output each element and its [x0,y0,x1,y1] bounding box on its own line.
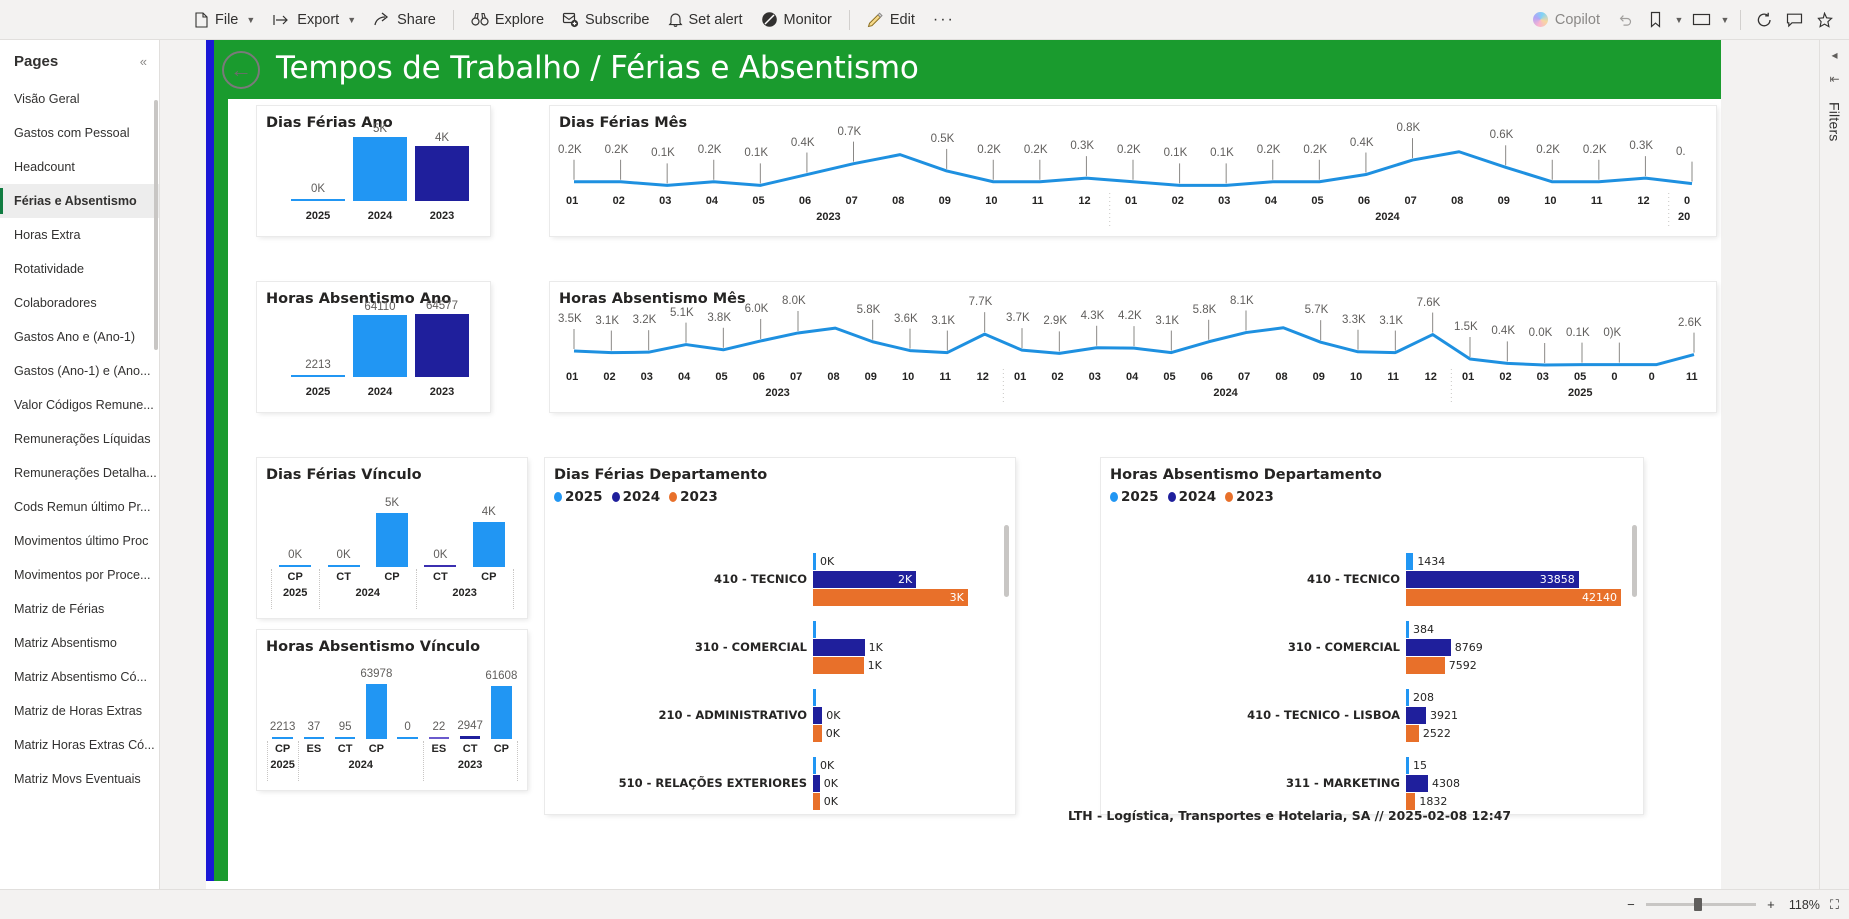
pages-pane-header: Pages « [0,40,159,82]
chevron-double-left-icon[interactable]: « [140,54,147,69]
report-footer-text: LTH - Logística, Transportes e Hotelaria… [1068,808,1511,823]
file-menu-label: File [215,12,238,28]
page-item-label: Matriz Absentismo Có... [14,670,147,684]
axis-tick-label: 09 [1313,371,1325,383]
chart-plot-area: 410 - TECNICO0K2K3K310 - COMERCIAL1K1K21… [545,505,1015,805]
bar-2024-2[interactable] [813,707,822,724]
bar-value-label: 0K [820,555,834,568]
zoom-slider-thumb[interactable] [1694,898,1702,911]
chart-vertical-scrollbar[interactable] [1632,525,1637,597]
zoom-out-button[interactable]: − [1624,897,1638,912]
sidebar-item-visao-geral[interactable]: Visão Geral [0,82,159,116]
file-icon [194,12,209,28]
chevron-down-icon: ▼ [1675,15,1684,25]
axis-tick-label: 01 [1462,371,1474,383]
bar-value-label: 0K [820,759,834,772]
bar-CP[interactable] [272,737,293,739]
more-options-button[interactable]: ··· [924,5,964,35]
pages-scrollbar[interactable] [154,100,158,350]
data-point-label: 0.2K [558,144,582,156]
bar-2025-0[interactable] [1406,553,1413,570]
sidebar-item-rotatividade[interactable]: Rotatividade [0,252,159,286]
data-point-label: 0.1K [1164,147,1188,159]
data-point-label: 0.2K [1257,144,1281,156]
axis-tick-label: CT [422,571,458,583]
zoom-slider[interactable] [1646,903,1756,906]
sidebar-item-gastos-ano-e-ano-1[interactable]: Gastos Ano e (Ano-1) [0,320,159,354]
bar-value-label: 5K [353,123,407,135]
sidebar-item-cods-remun-ultimo-pr[interactable]: Cods Remun último Pr... [0,490,159,524]
chart-legend[interactable]: 2025 2024 2023 [545,483,1015,505]
axis-group-separator [298,741,299,781]
bar-value-label: 0K [826,709,840,722]
bar-value-label: 33858 [1535,573,1575,586]
bell-icon [668,12,683,28]
data-point-label: 3.3K [1342,314,1366,326]
chart-plot-area: 410 - TECNICO14343385842140310 - COMERCI… [1101,505,1643,805]
data-point-label: 0)K [1603,327,1621,339]
bar-value-label: 0K [316,549,372,561]
bar-2024[interactable] [353,137,407,201]
comments-button[interactable] [1779,5,1809,35]
axis-tick-label: 01 [1014,371,1026,383]
bar-value-label: 4K [461,506,517,518]
monitor-icon [761,11,778,28]
page-item-label: Visão Geral [14,92,80,106]
sidebar-item-horas-extra[interactable]: Horas Extra [0,218,159,252]
legend-label: 2025 [565,489,603,505]
chevron-left-icon[interactable]: ◂ [1831,48,1837,62]
set-alert-button-label: Set alert [689,12,743,28]
axis-tick-label: 03 [1089,371,1101,383]
axis-group-label: 20 [1678,211,1690,223]
axis-tick-label: 02 [603,371,615,383]
bookmarks-button[interactable] [1640,5,1670,35]
sidebar-item-gastos-com-pessoal[interactable]: Gastos com Pessoal [0,116,159,150]
bar-2023-2[interactable] [1406,725,1419,742]
sidebar-item-gastos-ano-1-e-ano[interactable]: Gastos (Ano-1) e (Ano... [0,354,159,388]
view-button[interactable] [1686,5,1716,35]
chart-legend[interactable]: 2025 2024 2023 [1101,483,1643,505]
export-icon [273,13,291,27]
axis-group-label: 2023 [765,387,789,399]
bar-2025-2[interactable] [813,689,816,706]
data-point-label: 2.6K [1678,317,1702,329]
bar-value-label: 3921 [1430,709,1458,722]
data-point-label: 3.2K [633,314,657,326]
bar-value-label: 0K [824,777,838,790]
axis-group-separator [271,569,272,609]
bookmarks-chevron[interactable]: ▼ [1670,5,1686,35]
fit-to-page-icon[interactable]: ⛶ [1830,897,1839,913]
bar-group[interactable]: 4K 2023 [415,129,469,201]
bar-CP[interactable] [473,522,505,567]
data-point-label: 7.6K [1417,297,1441,309]
axis-group-separator [267,741,268,781]
visual-title: Horas Absentismo Mês [550,282,1716,307]
category-label: 410 - TECNICO [1101,572,1400,586]
axis-label-2024: 2024 [353,386,407,398]
set-alert-button[interactable]: Set alert [659,5,752,35]
sidebar-item-headcount[interactable]: Headcount [0,150,159,184]
bar-value-label: 61608 [473,670,529,682]
axis-group-separator [517,741,518,781]
edit-button[interactable]: Edit [858,5,924,35]
bar-2025[interactable] [291,375,345,377]
legend-label: 2024 [623,489,661,505]
report-header: ← Tempos de Trabalho / Férias e Absentis… [214,40,1721,99]
axis-tick-label: CP [277,571,313,583]
refresh-button[interactable] [1749,5,1779,35]
sidebar-item-movimentos-ultimo-proc[interactable]: Movimentos último Proc [0,524,159,558]
favorite-icon [1816,12,1833,28]
bar-value-label: 4K [415,132,469,144]
axis-tick-label: 08 [1451,195,1463,207]
divider [453,10,454,30]
data-point-label: 0.5K [931,133,955,145]
page-item-label: Cods Remun último Pr... [14,500,150,514]
category-label: 310 - COMERCIAL [545,640,807,654]
monitor-button[interactable]: Monitor [752,5,841,35]
axis-tick-label: 0 [1649,371,1655,383]
data-point-label: 0.2K [1303,144,1327,156]
bar-2024-2[interactable] [1406,707,1426,724]
axis-tick-label: 04 [1265,195,1277,207]
axis-group-label: 2025 [1568,387,1592,399]
axis-label-2024: 2024 [353,210,407,222]
visual-dias-ferias-vinculo[interactable]: Dias Férias Vínculo 0KCP0KCT5KCP0KCT4KCP… [257,458,527,618]
axis-tick-label: 03 [659,195,671,207]
bar-value-label: 1832 [1419,795,1447,808]
bar-group[interactable]: 64577 2023 [415,305,469,377]
data-point-label: 0.2K [1024,144,1048,156]
bar-CP[interactable] [491,686,512,739]
axis-tick-label: 03 [1218,195,1230,207]
data-point-label: 3.7K [1006,312,1030,324]
legend-swatch-icon [612,492,620,502]
chart-plot-area: 3.5K013.1K023.2K035.1K043.8K056.0K068.0K… [550,307,1716,405]
data-point-label: 0.2K [1583,144,1607,156]
page-title: Tempos de Trabalho / Férias e Absentismo [276,50,919,86]
data-point-label: 6.0K [745,303,769,315]
axis-tick-label: 02 [1172,195,1184,207]
bar-2024-1[interactable] [813,639,865,656]
data-point-label: 2.9K [1043,315,1067,327]
axis-tick-label: CP [471,571,507,583]
sidebar-item-matriz-absentismo-co[interactable]: Matriz Absentismo Có... [0,660,159,694]
data-point-label: 0.2K [698,144,722,156]
data-point-label: 4.3K [1081,310,1105,322]
chart-vertical-scrollbar[interactable] [1004,525,1009,597]
data-point-label: 5.1K [670,307,694,319]
command-bar-right-group: Copilot ▼ [1523,5,1839,35]
axis-tick-label: 06 [799,195,811,207]
sidebar-item-valor-codigos-remune[interactable]: Valor Códigos Remune... [0,388,159,422]
visual-dias-ferias-ano[interactable]: Dias Férias Ano 0K 2025 5K 2024 [257,106,490,236]
favorite-button[interactable] [1809,5,1839,35]
visual-horas-absentismo-departamento[interactable]: Horas Absentismo Departamento 2025 2024 … [1101,458,1643,814]
axis-tick-label: 03 [1537,371,1549,383]
axis-tick-label: 10 [1544,195,1556,207]
axis-group-label: 2023 [816,211,840,223]
visual-horas-absentismo-mes[interactable]: Horas Absentismo Mês 3.5K013.1K023.2K035… [550,282,1716,412]
pages-list[interactable]: Visão Geral Gastos com Pessoal Headcount… [0,82,159,889]
share-button[interactable]: Share [365,5,445,35]
pin-icon[interactable]: ⇤ [1829,72,1839,86]
page-item-label: Movimentos por Proce... [14,568,150,582]
axis-tick-label: 08 [892,195,904,207]
sidebar-item-movimentos-por-proce[interactable]: Movimentos por Proce... [0,558,159,592]
data-point-label: 0.8K [1397,122,1421,134]
visual-title: Horas Absentismo Vínculo [257,630,527,655]
bar-2025-3[interactable] [1406,757,1409,774]
bar-2024-3[interactable] [1406,775,1428,792]
bar-2023-2[interactable] [813,725,822,742]
axis-group-label: 2024 [346,587,390,599]
visual-horas-absentismo-ano[interactable]: Horas Absentismo Ano 2213 2025 64110 202… [257,282,490,412]
axis-tick-label: 07 [1238,371,1250,383]
category-label: 311 - MARKETING [1101,776,1400,790]
data-point-label: 3.8K [707,312,731,324]
page-item-label: Gastos (Ano-1) e (Ano... [14,364,151,378]
subscribe-button[interactable]: Subscribe [553,5,658,35]
bar-value-label: 3K [924,591,964,604]
axis-tick-label: 10 [985,195,997,207]
axis-tick-label: 07 [1405,195,1417,207]
legend-swatch-icon [1168,492,1176,502]
bar-2024-1[interactable] [1406,639,1451,656]
chart-plot-area: 2213 2025 64110 2024 64577 2023 [257,307,490,403]
bar-value-label: 7592 [1449,659,1477,672]
bar-2023[interactable] [415,146,469,201]
command-bar: File ▼ Export ▼ Share [0,0,1849,40]
sidebar-item-colaboradores[interactable]: Colaboradores [0,286,159,320]
bar-ES[interactable] [304,737,325,739]
sidebar-item-remuneracoes-detalha[interactable]: Remunerações Detalha... [0,456,159,490]
bar-CT[interactable] [424,565,456,567]
axis-tick-label: 10 [902,371,914,383]
file-menu-button[interactable]: File ▼ [185,5,264,35]
axis-tick-label: 12 [1078,195,1090,207]
undo-button[interactable] [1610,5,1640,35]
copilot-label: Copilot [1555,12,1600,28]
page-item-label: Colaboradores [14,296,97,310]
ellipsis-icon: ··· [933,15,955,25]
visual-title: Dias Férias Vínculo [257,458,527,483]
accent-bar-green [214,40,228,881]
visual-dias-ferias-departamento[interactable]: Dias Férias Departamento 2025 2024 2023 … [545,458,1015,814]
bar-2025-3[interactable] [813,757,816,774]
data-point-label: 0.3K [1070,140,1094,152]
bar-group[interactable]: 64110 2024 [353,305,407,377]
axis-group-separator [319,569,320,609]
bar-CT[interactable] [328,565,360,567]
bar-group[interactable]: 5K 2024 [353,129,407,201]
monitor-button-label: Monitor [784,12,832,28]
page-item-label: Matriz Absentismo [14,636,117,650]
legend-swatch-icon [1110,492,1118,502]
bar-value-label: 2K [872,573,912,586]
axis-tick-label: 04 [678,371,690,383]
axis-tick-label: 09 [1498,195,1510,207]
chevron-down-icon: ▼ [1721,15,1730,25]
sidebar-item-matriz-de-horas-extras[interactable]: Matriz de Horas Extras [0,694,159,728]
axis-tick-label: 11 [1591,195,1603,207]
data-point-label: 5.8K [1193,304,1217,316]
axis-tick-label: 05 [752,195,764,207]
chart-plot-area: 0K 2025 5K 2024 4K 202 [257,131,490,227]
category-label: 410 - TECNICO [545,572,807,586]
command-bar-left-group: File ▼ Export ▼ Share [0,5,964,35]
data-point-label: 0.4K [1491,325,1515,337]
bar-value-label: 384 [1413,623,1434,636]
binoculars-icon [471,12,489,27]
sidebar-item-matriz-movs-eventuais[interactable]: Matriz Movs Eventuais [0,762,159,796]
axis-group-label: 2025 [273,587,317,599]
bar-2025[interactable] [291,199,345,201]
export-menu-button[interactable]: Export ▼ [264,5,365,35]
body-row: Pages « Visão Geral Gastos com Pessoal H… [0,40,1849,889]
legend-item-2025[interactable]: 2025 [554,489,603,505]
export-menu-label: Export [297,12,339,28]
bar-value-label: 0K [824,795,838,808]
bar-group[interactable]: 2213 2025 [291,305,345,377]
axis-tick-label: 05 [1163,371,1175,383]
power-bi-report-window: File ▼ Export ▼ Share [0,0,1849,919]
pages-pane: Pages « Visão Geral Gastos com Pessoal H… [0,40,160,889]
bar-CT[interactable] [460,736,481,739]
filters-pane-label: Filters [1827,102,1843,142]
legend-item-2023[interactable]: 2023 [669,489,718,505]
bar-2023-1[interactable] [813,657,864,674]
page-item-label: Matriz de Horas Extras [14,704,142,718]
bar-2023-3[interactable] [813,793,820,810]
bar-value-label: 4308 [1432,777,1460,790]
sidebar-item-remuneracoes-liquidas[interactable]: Remunerações Líquidas [0,422,159,456]
axis-label-2025: 2025 [291,386,345,398]
data-point-label: 8.1K [1230,295,1254,307]
axis-tick-label: 04 [1126,371,1138,383]
report-canvas: ← Tempos de Trabalho / Férias e Absentis… [206,40,1721,889]
bar-group[interactable]: 0K 2025 [291,129,345,201]
explore-button-label: Explore [495,12,544,28]
axis-tick-label: 07 [790,371,802,383]
bar-value[interactable] [397,737,418,739]
data-point-label: 0.2K [1536,144,1560,156]
legend-item-2025[interactable]: 2025 [1110,489,1159,505]
axis-tick-label: 06 [753,371,765,383]
legend-item-2023[interactable]: 2023 [1225,489,1274,505]
bar-value-label: 63978 [348,668,404,680]
view-chevron[interactable]: ▼ [1716,5,1732,35]
axis-tick-label: 02 [613,195,625,207]
axis-group-label: 2024 [1213,387,1237,399]
subscribe-icon [562,12,579,28]
data-point-label: 1.5K [1454,321,1478,333]
axis-tick-label: 04 [706,195,718,207]
axis-tick-label: 11 [1387,371,1399,383]
axis-tick-label: 05 [715,371,727,383]
axis-tick-label: 02 [1499,371,1511,383]
sidebar-item-matriz-de-ferias[interactable]: Matriz de Férias [0,592,159,626]
share-icon [374,12,391,27]
bar-value-label: 95 [317,721,373,733]
axis-tick-label: 0 [1611,371,1617,383]
bar-value-label: 64577 [415,300,469,312]
legend-item-2024[interactable]: 2024 [1168,489,1217,505]
filters-pane[interactable]: ◂ ⇤ Filters [1819,40,1849,889]
copilot-button[interactable]: Copilot [1523,5,1610,35]
bar-value-label: 1K [869,641,883,654]
bar-2025-1[interactable] [1406,621,1409,638]
legend-label: 2024 [1179,489,1217,505]
axis-group-label: 2024 [1375,211,1399,223]
page-item-label: Matriz de Férias [14,602,104,616]
undo-icon [1618,13,1633,27]
category-label: 310 - COMERCIAL [1101,640,1400,654]
pages-pane-title: Pages [14,53,58,70]
accent-bar-blue [206,40,214,881]
chevron-down-icon: ▼ [347,15,356,25]
bar-value-label: 0K [826,727,840,740]
sidebar-item-matriz-absentismo[interactable]: Matriz Absentismo [0,626,159,660]
legend-swatch-icon [1225,492,1233,502]
axis-label-2023: 2023 [415,386,469,398]
bar-value-label: 208 [1413,691,1434,704]
axis-tick-label: 11 [939,371,951,383]
visual-horas-absentismo-vinculo[interactable]: Horas Absentismo Vínculo 2213CP37ES95CT6… [257,630,527,790]
bar-CT[interactable] [335,737,356,739]
page-item-label: Remunerações Detalha... [14,466,157,480]
bar-value-label: 1434 [1417,555,1445,568]
bar-CP[interactable] [279,565,311,567]
bar-2023[interactable] [415,314,469,377]
visual-dias-ferias-mes[interactable]: Dias Férias Mês 0.2K010.2K020.1K030.2K04… [550,106,1716,236]
data-point-label: 3.5K [558,313,582,325]
axis-tick-label: 01 [566,195,578,207]
data-point-label: 0.2K [1117,144,1141,156]
bar-ES[interactable] [429,737,450,739]
bar-value-label: 1K [868,659,882,672]
view-icon [1692,12,1711,27]
category-label: 410 - TECNICO - LISBOA [1101,708,1400,722]
subscribe-button-label: Subscribe [585,12,649,28]
data-point-label: 5.7K [1305,304,1329,316]
sidebar-item-ferias-e-absentismo[interactable]: Férias e Absentismo [0,184,159,218]
bar-2025-0[interactable] [813,553,816,570]
legend-swatch-icon [669,492,677,502]
bar-CP[interactable] [376,513,408,567]
arrow-left-circle-icon[interactable]: ← [222,51,260,89]
sidebar-item-matriz-horas-extras-co[interactable]: Matriz Horas Extras Có... [0,728,159,762]
zoom-in-button[interactable]: + [1764,897,1778,912]
legend-item-2024[interactable]: 2024 [612,489,661,505]
bar-value-label: 64110 [353,301,407,313]
bar-2025-1[interactable] [813,621,816,638]
data-point-label: 3.1K [1379,315,1403,327]
axis-tick-label: 10 [1350,371,1362,383]
bar-2023-1[interactable] [1406,657,1445,674]
bar-value-label: 2947 [442,720,498,732]
axis-tick-label: 09 [865,371,877,383]
bar-2024[interactable] [353,315,407,377]
bar-2025-2[interactable] [1406,689,1409,706]
bar-2024-3[interactable] [813,775,820,792]
data-point-label: 0.3K [1629,140,1653,152]
data-point-label: 0.4K [791,137,815,149]
explore-button[interactable]: Explore [462,5,553,35]
refresh-icon [1756,12,1773,28]
